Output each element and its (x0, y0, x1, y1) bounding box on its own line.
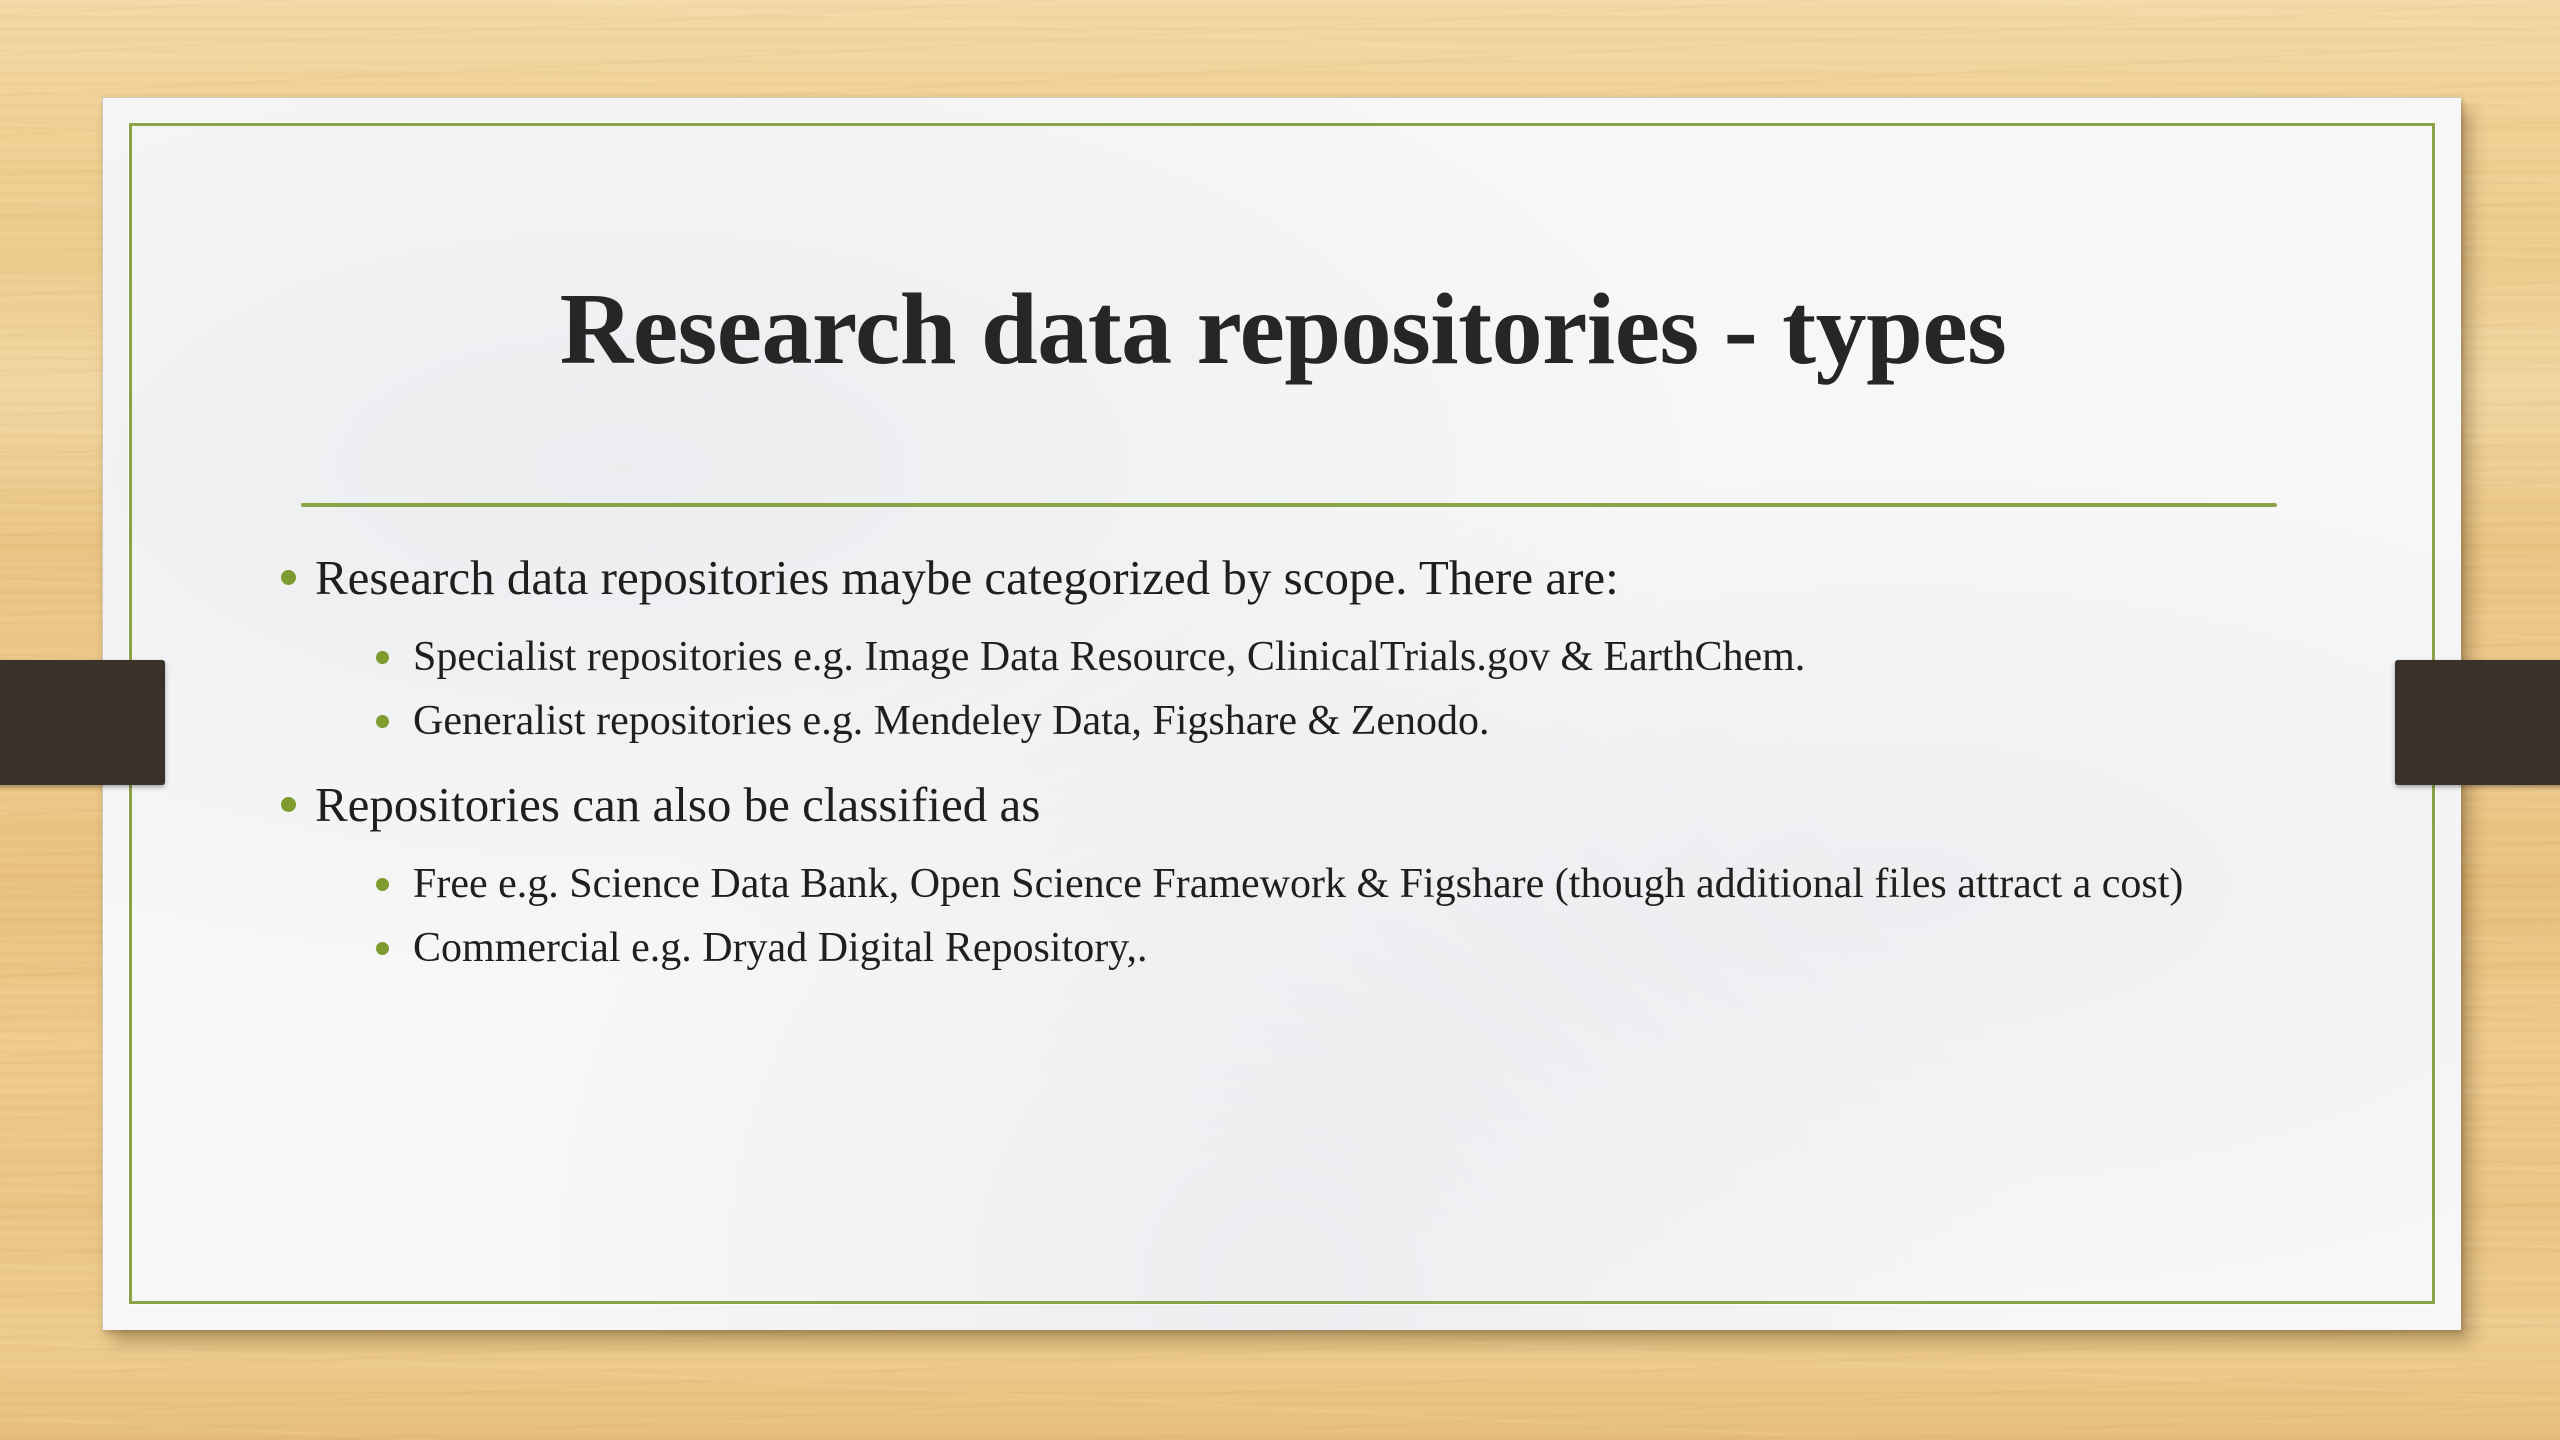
bullet-dot-icon (281, 797, 296, 812)
spacer (253, 757, 2383, 773)
bullet-dot-icon (376, 651, 389, 664)
slide-body-list: Research data repositories maybe categor… (253, 546, 2383, 985)
bullet-text: Generalist repositories e.g. Mendeley Da… (413, 698, 1490, 744)
right-decorative-tab (2395, 660, 2560, 785)
left-decorative-tab (0, 660, 165, 785)
title-divider-rule (301, 503, 2277, 507)
bullet-item-level2: Free e.g. Science Data Bank, Open Scienc… (253, 857, 2383, 913)
presentation-stage: Research data repositories - types Resea… (0, 0, 2560, 1440)
bullet-text: Specialist repositories e.g. Image Data … (413, 634, 1805, 680)
bullet-dot-icon (376, 942, 389, 955)
bullet-dot-icon (281, 570, 296, 585)
spacer (253, 616, 2383, 630)
spacer (253, 843, 2383, 857)
bullet-text: Free e.g. Science Data Bank, Open Scienc… (413, 861, 2183, 907)
bullet-item-level2: Generalist repositories e.g. Mendeley Da… (253, 694, 2383, 750)
bullet-text: Repositories can also be classified as (315, 777, 1040, 832)
bullet-item-level1: Research data repositories maybe categor… (253, 546, 2383, 610)
bullet-text: Commercial e.g. Dryad Digital Repository… (413, 925, 1147, 971)
bullet-text: Research data repositories maybe categor… (315, 550, 1619, 605)
bullet-item-level2: Specialist repositories e.g. Image Data … (253, 630, 2383, 686)
slide-title: Research data repositories - types (283, 276, 2283, 383)
bullet-dot-icon (376, 878, 389, 891)
bullet-item-level1: Repositories can also be classified as (253, 773, 2383, 837)
bullet-dot-icon (376, 715, 389, 728)
slide-content: Research data repositories - types Resea… (103, 98, 2461, 1330)
bullet-item-level2: Commercial e.g. Dryad Digital Repository… (253, 921, 2383, 977)
slide-card: Research data repositories - types Resea… (102, 97, 2461, 1330)
